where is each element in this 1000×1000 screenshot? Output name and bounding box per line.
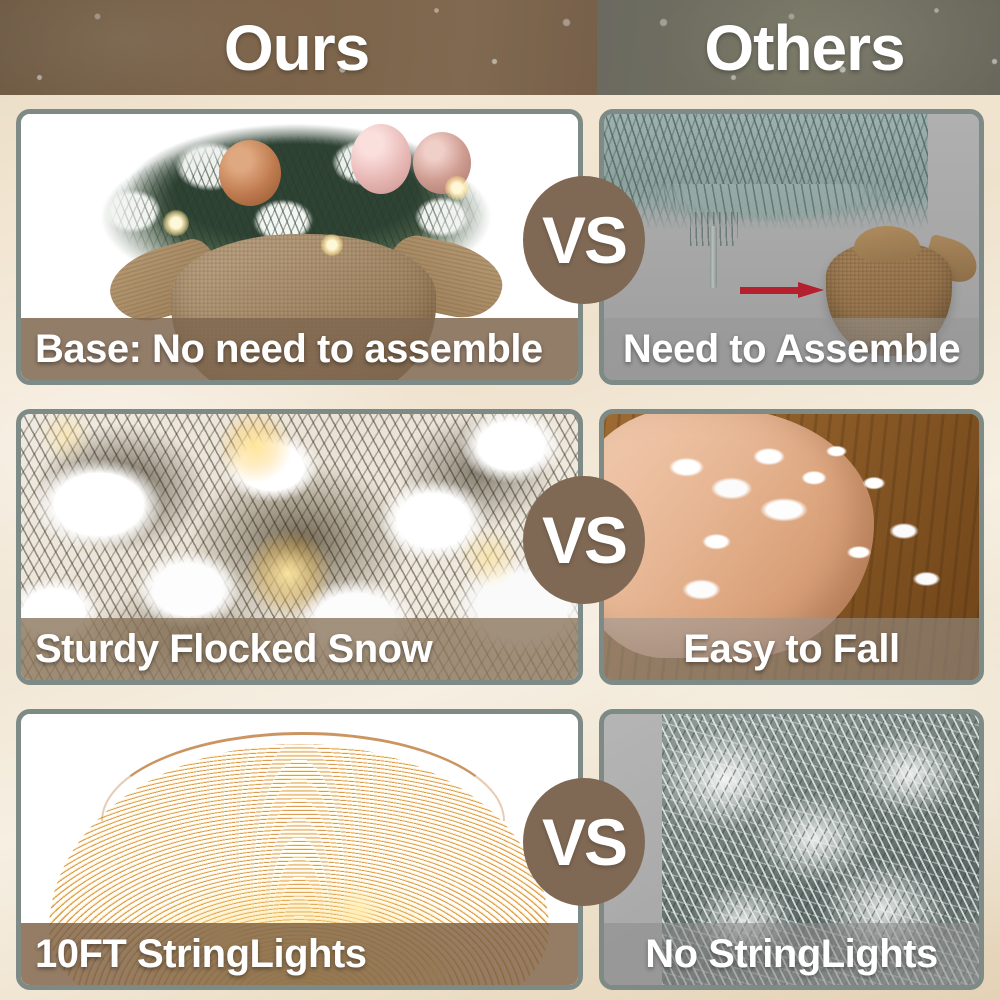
- comparison-infographic: Ours Others: [0, 0, 1000, 1000]
- tree-light-icon: [445, 176, 469, 200]
- ornament-pink-icon: [351, 124, 411, 194]
- panel-others-base[interactable]: Need to Assemble: [599, 109, 984, 385]
- tree-center-pole: [710, 226, 717, 288]
- caption-text: Sturdy Flocked Snow: [35, 629, 432, 669]
- arrow-right-icon: [740, 282, 828, 298]
- header-title-others: Others: [704, 16, 904, 80]
- panel-ours-base[interactable]: Base: No need to assemble: [16, 109, 583, 385]
- caption-text: Need to Assemble: [623, 329, 960, 369]
- ornament-copper-icon: [219, 140, 281, 206]
- comparison-row-flocking: Sturdy Flocked Snow Easy to Fall: [0, 395, 1000, 695]
- caption-text: No StringLights: [645, 934, 937, 974]
- panel-ours-flocking[interactable]: Sturdy Flocked Snow: [16, 409, 583, 685]
- header-title-ours: Ours: [224, 16, 369, 80]
- vs-badge-row-1: VS: [523, 176, 645, 304]
- caption-others-lights: No StringLights: [604, 923, 979, 985]
- string-light-top-wire: [101, 732, 505, 821]
- header-cell-ours: Ours: [0, 0, 597, 95]
- caption-ours-flocking: Sturdy Flocked Snow: [21, 618, 578, 680]
- header-cell-others: Others: [597, 0, 1000, 95]
- tree-light-icon: [321, 234, 343, 256]
- vs-badge-label: VS: [542, 207, 626, 273]
- burlap-bag-knot: [854, 226, 920, 262]
- tree-light-icon: [163, 210, 189, 236]
- comparison-row-base: Base: No need to assemble N: [0, 95, 1000, 395]
- caption-others-base: Need to Assemble: [604, 318, 979, 380]
- panel-others-lights[interactable]: No StringLights: [599, 709, 984, 990]
- caption-ours-lights: 10FT StringLights: [21, 923, 578, 985]
- caption-ours-base: Base: No need to assemble: [21, 318, 578, 380]
- comparison-row-lights: 10FT StringLights No StringLights: [0, 695, 1000, 1000]
- vs-badge-label: VS: [542, 809, 626, 875]
- vs-badge-row-2: VS: [523, 476, 645, 604]
- vs-badge-label: VS: [542, 507, 626, 573]
- caption-text: 10FT StringLights: [35, 934, 367, 974]
- panel-ours-lights[interactable]: 10FT StringLights: [16, 709, 583, 990]
- comparison-rows: Base: No need to assemble N: [0, 95, 1000, 1000]
- vs-badge-row-3: VS: [523, 778, 645, 906]
- caption-text: Base: No need to assemble: [35, 329, 543, 369]
- comparison-header: Ours Others: [0, 0, 1000, 95]
- panel-others-flocking[interactable]: Easy to Fall: [599, 409, 984, 685]
- caption-text: Easy to Fall: [683, 629, 899, 669]
- caption-others-flocking: Easy to Fall: [604, 618, 979, 680]
